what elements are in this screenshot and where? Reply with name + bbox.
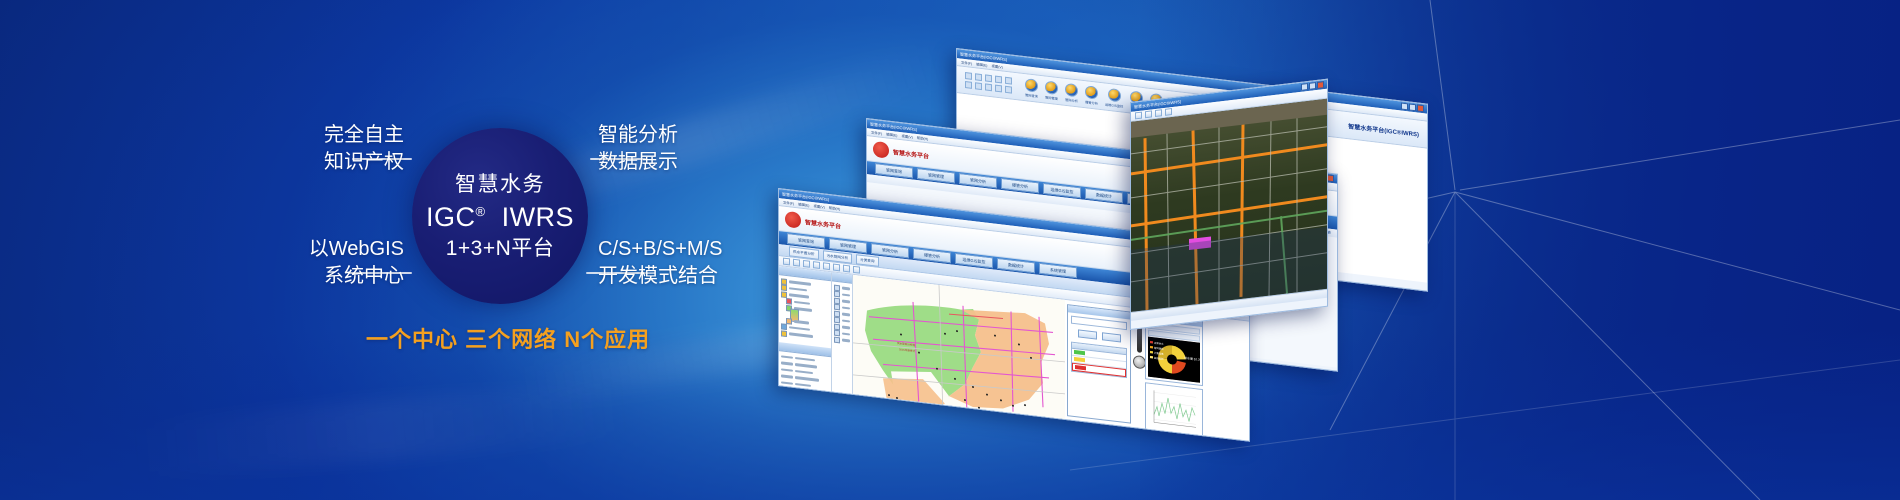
menu-item[interactable]: 文件(F): [783, 200, 794, 206]
select-icon[interactable]: [833, 263, 840, 271]
trend-chart-panel[interactable]: [1145, 382, 1203, 437]
ribbon-button[interactable]: 爆管分析: [1085, 85, 1098, 106]
menu-item[interactable]: 编辑(E): [886, 131, 897, 137]
dialog-query-button[interactable]: [1078, 329, 1097, 339]
menu-item[interactable]: 文件(F): [961, 60, 972, 66]
zoom-in-icon[interactable]: [803, 260, 810, 268]
menu-item[interactable]: 视图(V): [991, 63, 1002, 69]
menu-item[interactable]: 编辑(E): [798, 201, 809, 207]
feature-line-1: 智能分析: [598, 122, 678, 149]
ribbon-button[interactable]: 管网分析: [1065, 82, 1078, 103]
ribbon-button[interactable]: 管网查询: [1025, 78, 1038, 99]
globe-icon: [1065, 82, 1078, 97]
tagline: 一个中心 三个网络 N个应用: [366, 322, 650, 354]
feature-line-1: C/S+B/S+M/S: [598, 236, 723, 263]
layer-label: [789, 326, 810, 331]
pan-pad-icon[interactable]: [1133, 355, 1146, 370]
water-drop-logo-icon: [785, 211, 801, 229]
hub-product: IWRS: [502, 202, 575, 232]
feature-label-bottom-left: 以WebGIS 系统中心: [286, 236, 404, 290]
measure-icon[interactable]: [843, 265, 850, 273]
banner-root: 智慧水务平台(IGC®IWRS): [0, 0, 1900, 500]
feature-line-2: 知识产权: [300, 149, 404, 176]
feature-label-top-right: 智能分析 数据展示: [598, 122, 678, 176]
dialog-reset-button[interactable]: [1102, 332, 1121, 342]
tool-icon[interactable]: [1155, 109, 1162, 117]
brand-name: 智慧水务平台: [893, 147, 929, 160]
layer-label: [794, 301, 810, 305]
layer-panel[interactable]: [779, 266, 832, 403]
layer-label: [794, 320, 809, 324]
tool-icon[interactable]: [1135, 112, 1142, 120]
feature-label-bottom-right: C/S+B/S+M/S 开发模式结合: [598, 236, 723, 290]
menu-item[interactable]: 视图(V): [813, 203, 824, 209]
app-window-satellite[interactable]: 智慧水务平台(IGC®IWRS): [1130, 79, 1328, 330]
feature-line-1: 完全自主: [300, 122, 404, 149]
window-brand-title: 智慧水务平台(IGC®IWRS): [1348, 121, 1419, 138]
menu-item[interactable]: 文件(F): [871, 130, 882, 136]
zoom-out-icon[interactable]: [813, 261, 820, 269]
dialog-result-table[interactable]: [1071, 342, 1127, 379]
feature-label-top-left: 完全自主 知识产权: [300, 122, 404, 176]
tool-icon[interactable]: [1165, 108, 1172, 116]
ribbon-button[interactable]: 管网管理: [1045, 80, 1058, 101]
sub-tab[interactable]: 分类查询: [856, 254, 878, 267]
ribbon-label: 爆管分析: [1085, 99, 1098, 106]
registered-mark-icon: ®: [475, 204, 485, 219]
layer-label: [789, 281, 811, 286]
hub-title-en: IGC® IWRS: [426, 204, 574, 231]
tool-icon[interactable]: [1145, 110, 1152, 118]
map-tool-column[interactable]: [832, 272, 853, 405]
globe-icon: [1108, 87, 1121, 102]
layer-swatch: [781, 291, 787, 298]
water-drop-logo-icon: [873, 141, 889, 159]
save-icon[interactable]: [793, 259, 800, 267]
open-icon[interactable]: [783, 258, 790, 266]
layer-tree[interactable]: [779, 275, 831, 346]
ribbon-button[interactable]: 运维GIS监控: [1105, 87, 1123, 108]
hub-title-cn: 智慧水务: [455, 174, 545, 195]
menu-item[interactable]: 帮助(H): [917, 135, 929, 141]
hub-circle: 智慧水务 IGC® IWRS 1+3+N平台: [412, 128, 588, 304]
pie-gauge-chart[interactable]: ■ 供水量 52.25 正常供水 管网漏损 计量误差 其他损耗: [1148, 337, 1200, 383]
feature-line-2: 系统中心: [286, 263, 404, 290]
feature-line-2: 开发模式结合: [598, 263, 723, 290]
ribbon-label: 管网分析: [1065, 96, 1078, 103]
ribbon-label: 运维GIS监控: [1105, 101, 1123, 108]
globe-icon: [1025, 78, 1038, 93]
app-screenshot-stack: 智慧水务平台(IGC®IWRS): [780, 40, 1480, 380]
layer-label: [789, 333, 813, 338]
layer-swatch: [781, 330, 787, 337]
ribbon-label: 管网管理: [1045, 94, 1058, 101]
pan-icon[interactable]: [823, 262, 830, 270]
menu-item[interactable]: 编辑(E): [976, 61, 987, 67]
print-icon[interactable]: [853, 266, 860, 274]
brand-name: 智慧水务平台: [805, 217, 841, 230]
globe-icon: [1085, 85, 1098, 100]
dialog-input[interactable]: [1071, 316, 1127, 331]
ribbon-label: 管网查询: [1025, 92, 1038, 99]
feature-line-2: 数据展示: [598, 149, 678, 176]
layer-label: [789, 287, 807, 292]
hub-subtitle: 1+3+N平台: [446, 238, 555, 259]
layer-label: [789, 294, 809, 299]
menu-item[interactable]: 帮助(H): [829, 205, 841, 211]
hub-brand: IGC: [426, 202, 476, 232]
feature-line-1: 以WebGIS: [286, 236, 404, 263]
analysis-dialog[interactable]: [1067, 304, 1131, 424]
satellite-map-canvas[interactable]: [1131, 99, 1327, 312]
menu-item[interactable]: 视图(V): [901, 133, 912, 139]
analytics-column: ■ 供水量 52.25 正常供水 管网漏损 计量误差 其他损耗: [1145, 309, 1206, 441]
globe-icon: [1045, 80, 1058, 95]
